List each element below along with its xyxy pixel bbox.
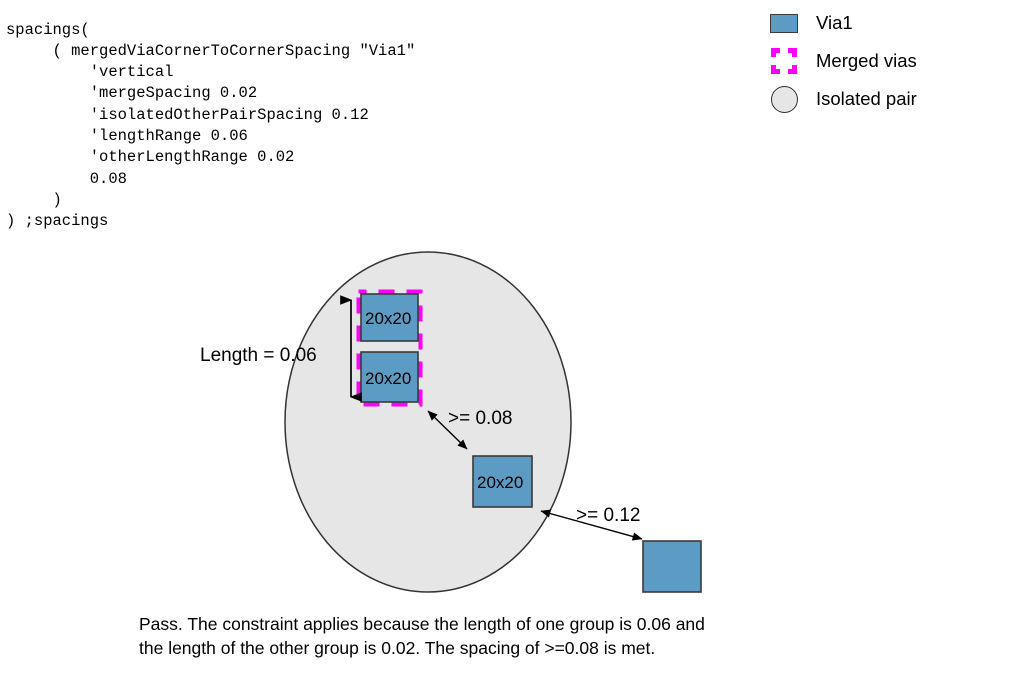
- merged-via-1-label: 20x20: [365, 309, 411, 328]
- isolated-via-label: 20x20: [477, 473, 523, 492]
- spacing-label-008: >= 0.08: [448, 408, 512, 429]
- spacing-label-012: >= 0.12: [576, 505, 640, 526]
- merged-via-2: 20x20: [361, 352, 418, 402]
- isolated-via: 20x20: [473, 456, 532, 507]
- caption-line-1: Pass. The constraint applies because the…: [139, 612, 839, 636]
- caption-line-2: the length of the other group is 0.02. T…: [139, 636, 839, 660]
- result-caption: Pass. The constraint applies because the…: [139, 612, 839, 660]
- merged-via-2-label: 20x20: [365, 369, 411, 388]
- layout-diagram: 20x20 20x20 Length = 0.06 20x20 >= 0.08 …: [0, 0, 1011, 681]
- merged-via-1: 20x20: [361, 294, 418, 341]
- length-dimension-label: Length = 0.06: [200, 345, 317, 366]
- other-via: [643, 541, 701, 592]
- isolated-pair-region: [285, 252, 571, 592]
